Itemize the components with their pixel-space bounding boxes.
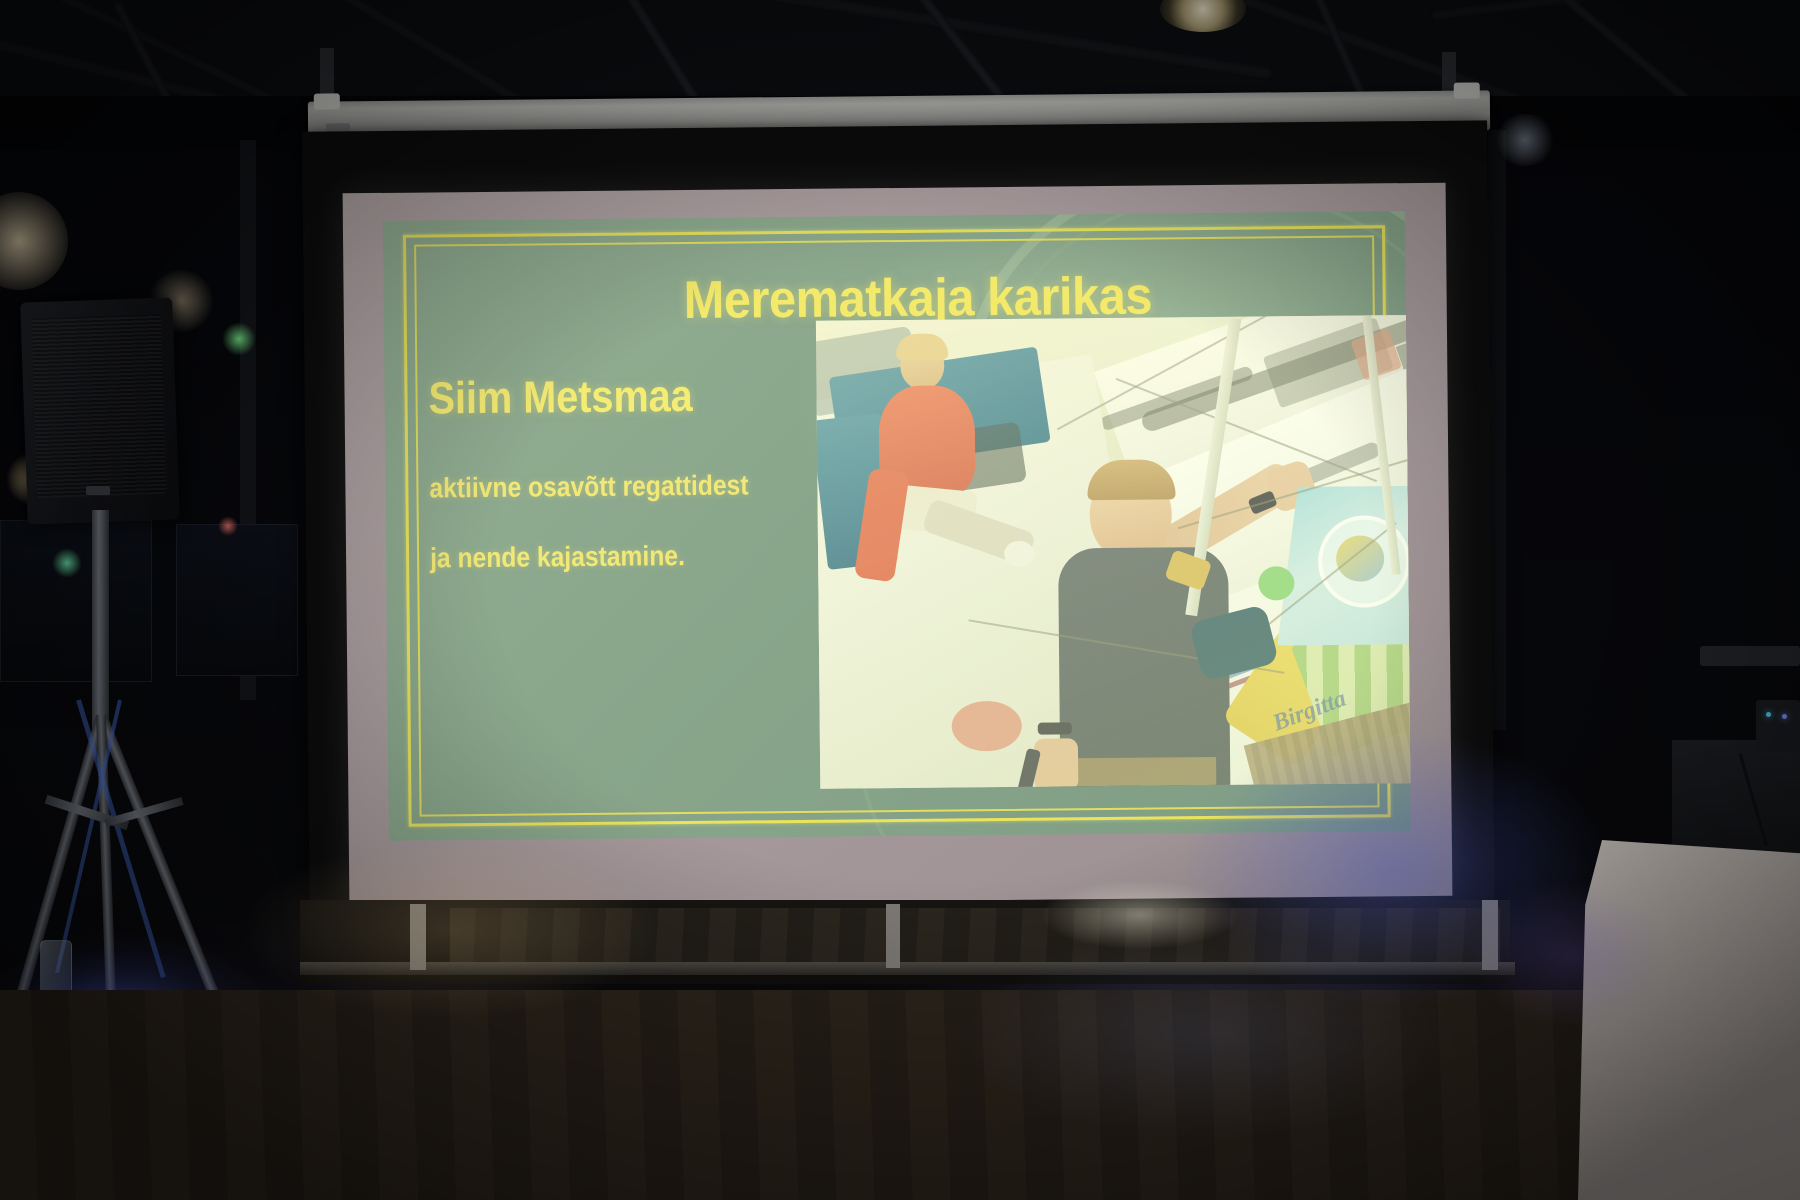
slide-presenter-name: Siim Metsmaa [428, 370, 693, 425]
mixer-console [1756, 700, 1800, 752]
floor-light-reflection [1040, 880, 1240, 950]
speaker-brand-logo [86, 486, 110, 495]
stage-support-leg [886, 904, 900, 968]
photo-wristwatch [1038, 722, 1072, 734]
housing-end-cap [314, 93, 340, 109]
stage-support-leg [1482, 900, 1498, 970]
housing-end-cap [1454, 82, 1480, 98]
slide-body-line-2: ja nende kajastamine. [430, 540, 685, 574]
distant-light [52, 548, 82, 578]
projected-canvas: Merematkaja karikas Siim Metsmaa aktiivn… [343, 183, 1453, 907]
slide-photo: Birgitta [816, 315, 1411, 789]
balloon-light [0, 192, 68, 290]
projection-screen-assembly: Merematkaja karikas Siim Metsmaa aktiivn… [300, 96, 1490, 906]
distant-light [218, 516, 238, 536]
event-hall-scene: Merematkaja karikas Siim Metsmaa aktiivn… [0, 0, 1800, 1200]
presentation-slide: Merematkaja karikas Siim Metsmaa aktiivn… [383, 211, 1411, 841]
mixer-console [1700, 646, 1800, 666]
distant-light [222, 322, 256, 356]
back-window [0, 520, 152, 682]
back-window [176, 524, 298, 676]
slide-body-line-1: aktiivne osavõtt regattidest [429, 469, 748, 504]
stage-support-leg [410, 904, 426, 970]
distant-light [1494, 114, 1556, 166]
equipment-indicator-led [1782, 714, 1787, 719]
equipment-indicator-led [1766, 712, 1771, 717]
draped-table [1578, 840, 1800, 1200]
floor-light-reflection [960, 930, 1460, 1140]
stage-floor [0, 990, 1800, 1200]
